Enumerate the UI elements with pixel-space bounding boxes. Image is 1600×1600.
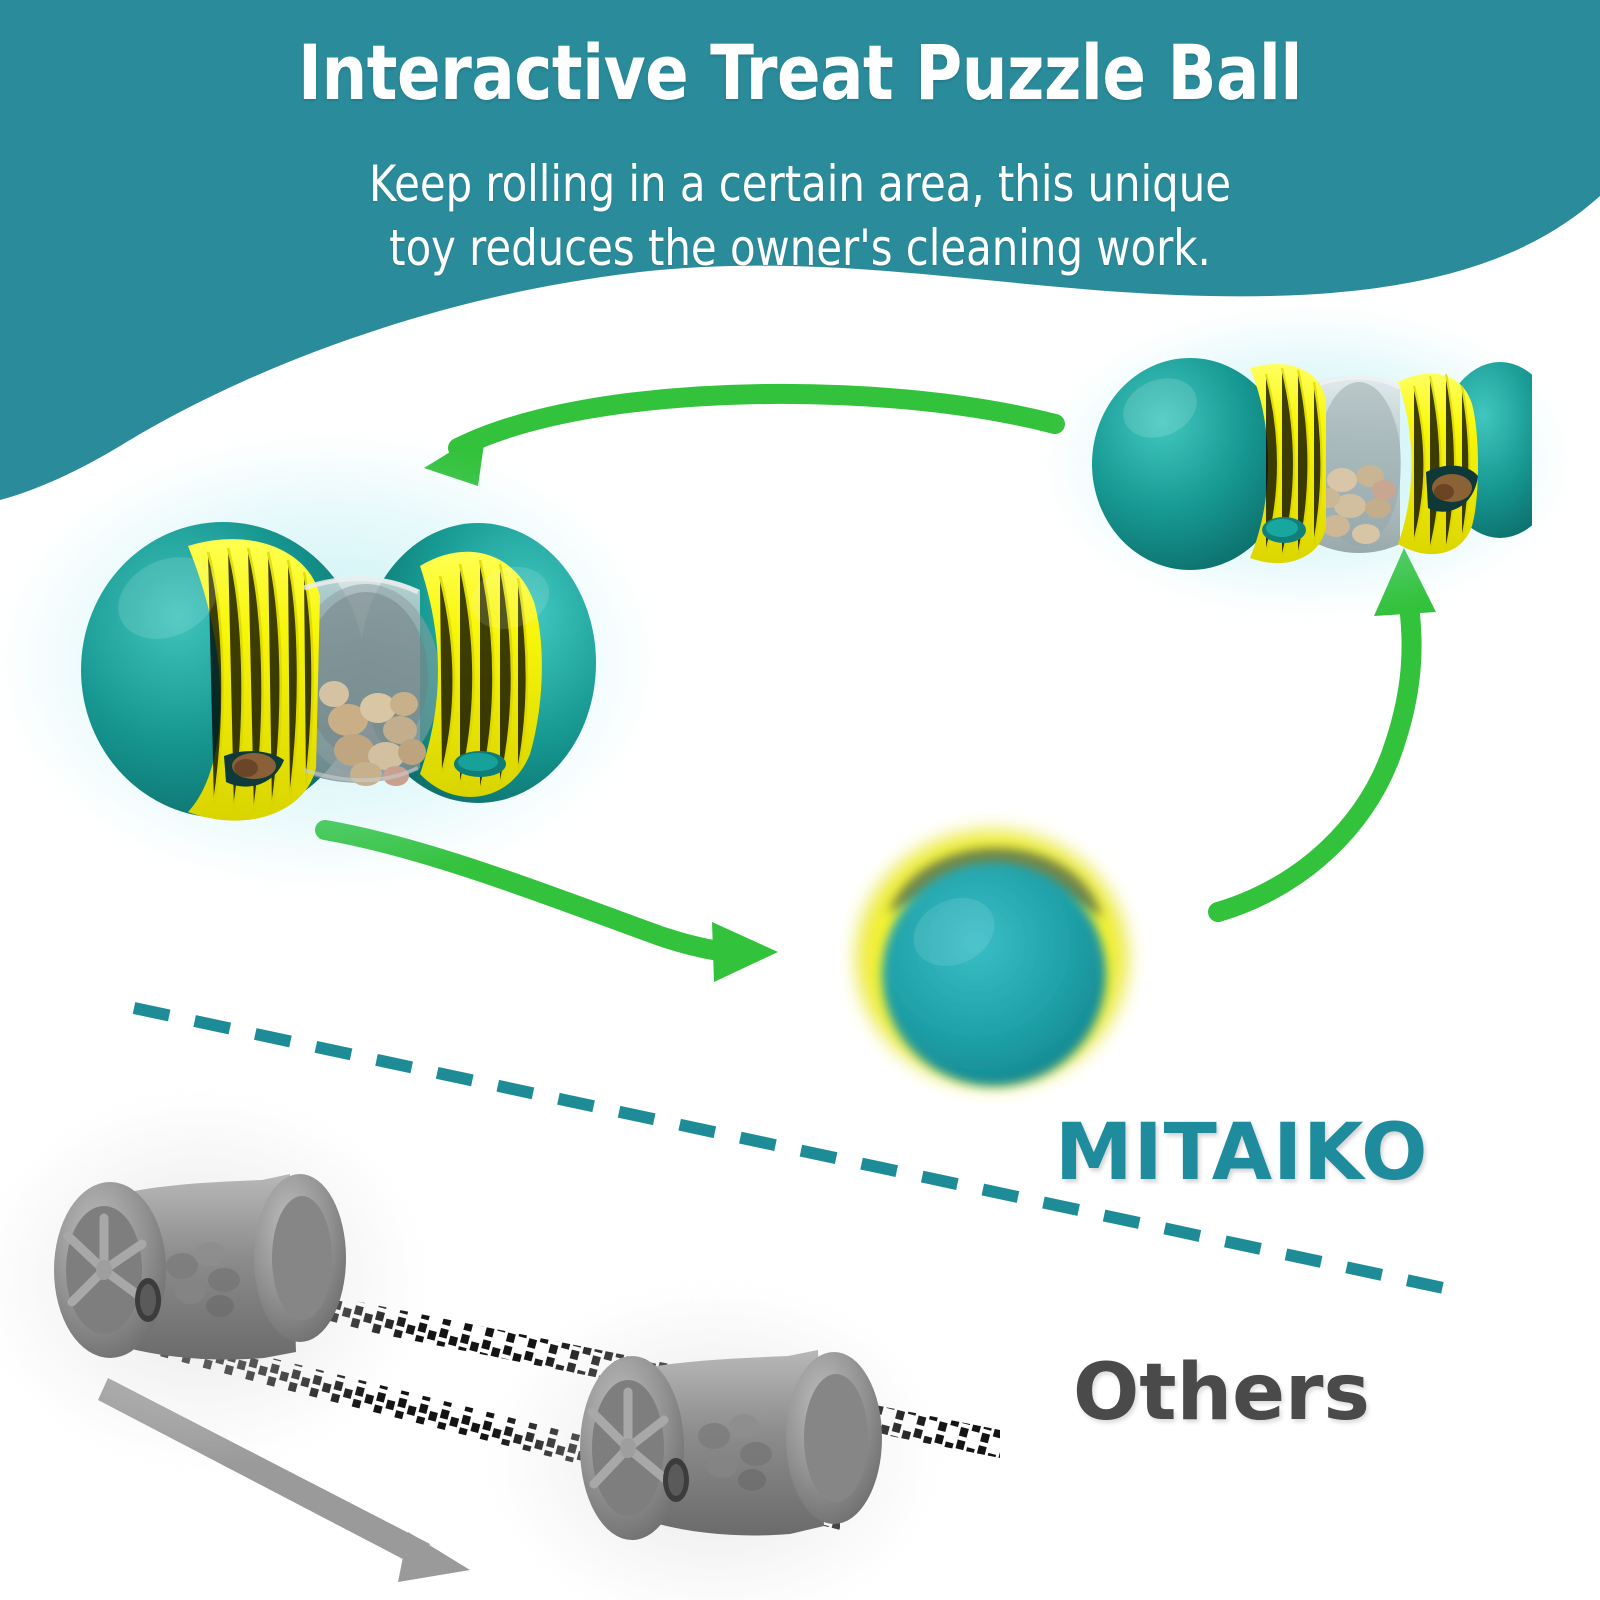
spinning-ball-illustration	[826, 806, 1158, 1118]
competitor-wheel-left	[54, 1182, 166, 1358]
infographic-canvas: Interactive Treat Puzzle Ball Keep rolli…	[0, 0, 1600, 1600]
competitor-toy-rear-illustration	[24, 1132, 380, 1428]
competitor-wheel-right	[254, 1174, 346, 1342]
competitor-toy-front-illustration	[534, 1320, 894, 1592]
brand-label-others: Others	[1073, 1348, 1370, 1438]
competitor-toy-rear	[24, 1132, 380, 1428]
product-image-puzzle-ball-left	[48, 468, 608, 854]
competitor-front-wheel-left	[580, 1356, 684, 1540]
competitor-toy-front	[534, 1320, 894, 1592]
brand-label-mitaiko: MITAIKO	[1055, 1108, 1428, 1198]
yellow-band-right-toy-right	[1398, 373, 1478, 554]
puzzle-ball-right-illustration	[1082, 330, 1532, 592]
product-image-puzzle-ball-top-right	[1082, 330, 1532, 592]
product-image-puzzle-ball-spinning	[826, 806, 1158, 1118]
puzzle-ball-left-illustration	[48, 468, 608, 854]
competitor-front-wheel-right	[786, 1352, 882, 1524]
